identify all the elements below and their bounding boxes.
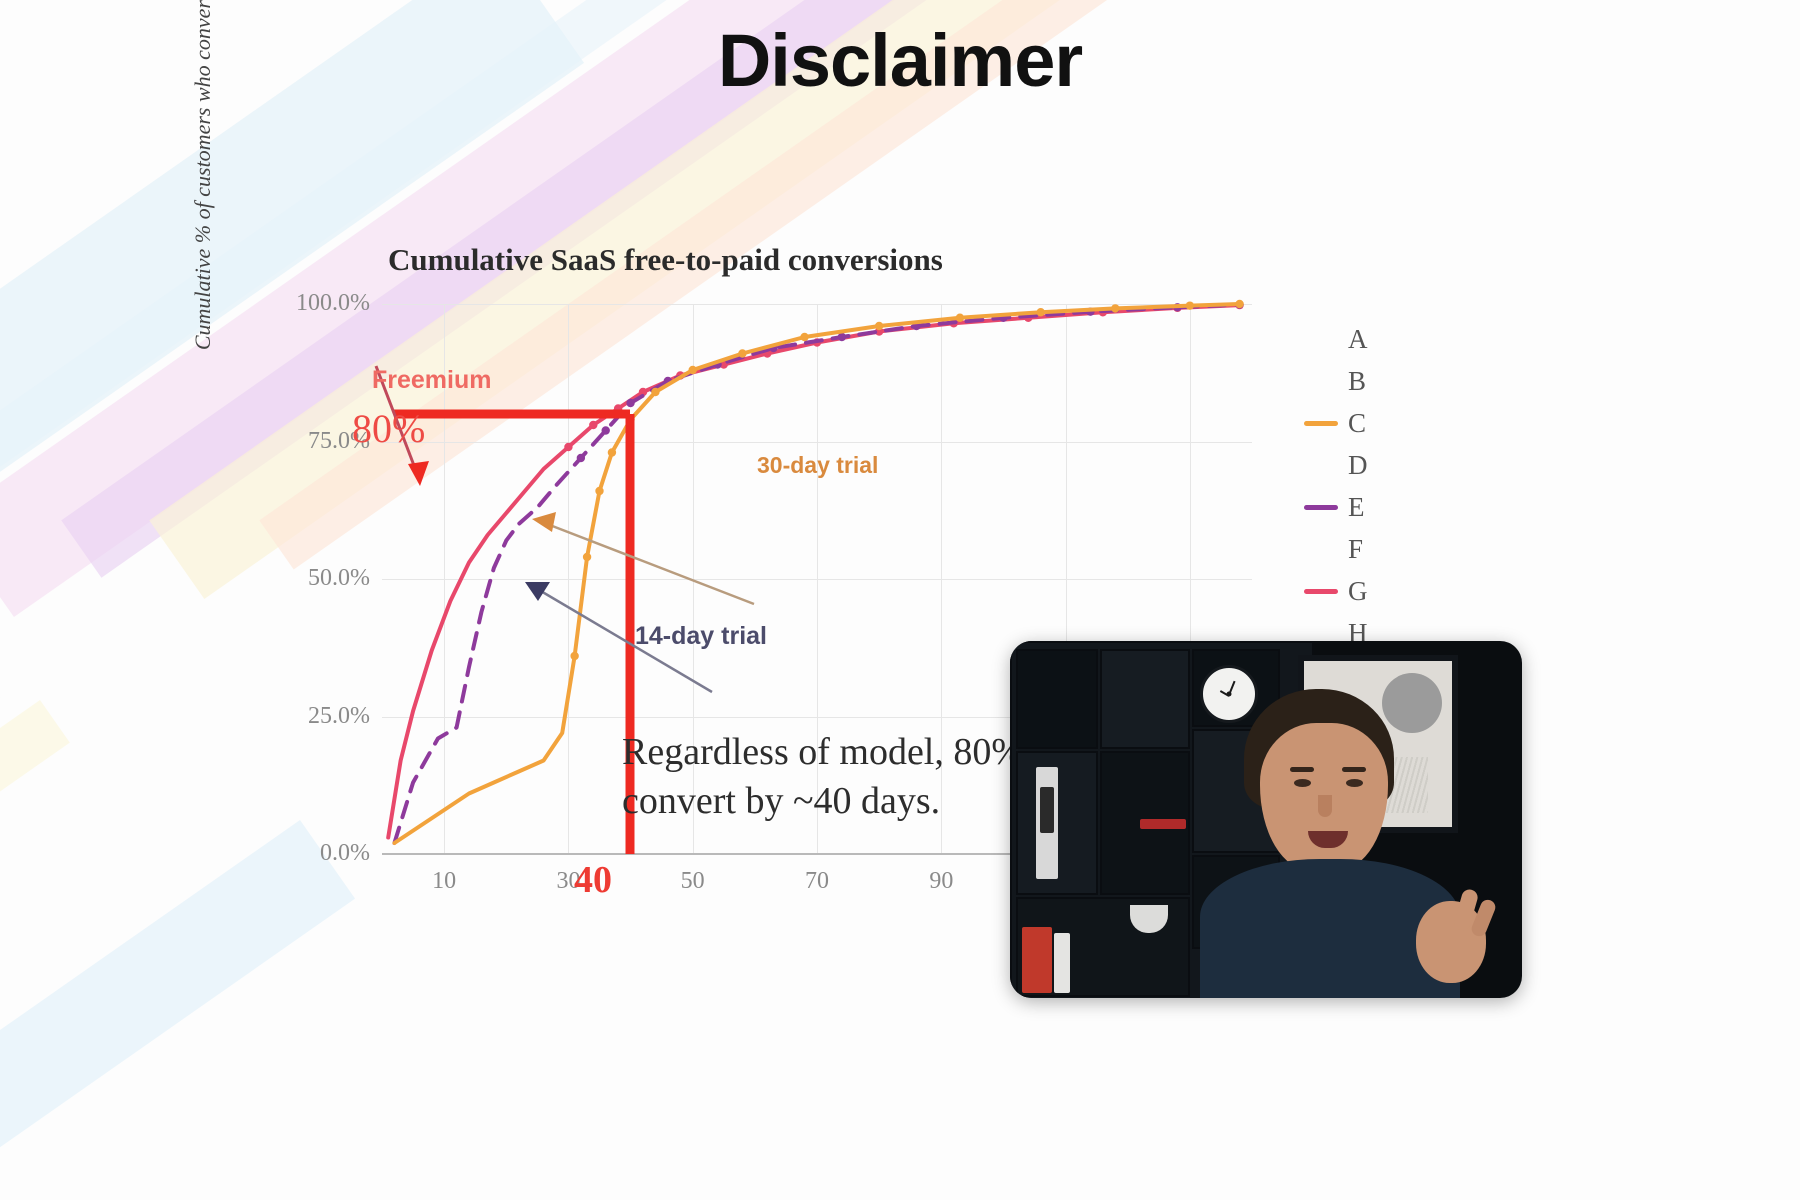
- legend-item-e[interactable]: E: [1304, 486, 1454, 528]
- legend-swatch-h-icon: [1304, 631, 1338, 636]
- thirty-day-arrow-head: [532, 512, 556, 532]
- avatar: [1190, 671, 1522, 998]
- forty-days-annotation: 40: [574, 858, 612, 902]
- callout-text: Regardless of model, 80% convert by ~40 …: [622, 728, 1062, 825]
- legend-swatch-f-icon: [1304, 547, 1338, 552]
- page-title: Disclaimer: [0, 18, 1800, 103]
- legend-swatch-d-icon: [1304, 463, 1338, 468]
- legend-item-g[interactable]: G: [1304, 570, 1454, 612]
- legend-label-f: F: [1348, 536, 1363, 563]
- legend-item-a[interactable]: A: [1304, 318, 1454, 360]
- shelf-cell: [1016, 649, 1098, 749]
- chart-title: Cumulative SaaS free-to-paid conversions: [388, 242, 943, 278]
- y-tick-label: 50.0%: [308, 565, 370, 592]
- x-tick-label: 10: [432, 868, 456, 895]
- callout-line-1: Regardless of model, 80%: [622, 728, 1062, 777]
- callout-line-2: convert by ~40 days.: [622, 777, 1062, 826]
- chart-legend: A B C D E F G: [1304, 318, 1454, 654]
- eye-left: [1294, 779, 1311, 787]
- nose: [1318, 795, 1332, 817]
- y-axis-label: Cumulative % of customers who convert: [190, 0, 216, 382]
- legend-label-d: D: [1348, 452, 1368, 479]
- legend-item-b[interactable]: B: [1304, 360, 1454, 402]
- book-spine: [1054, 933, 1070, 993]
- legend-item-d[interactable]: D: [1304, 444, 1454, 486]
- legend-swatch-g-icon: [1304, 589, 1338, 594]
- legend-swatch-c-icon: [1304, 421, 1338, 426]
- legend-swatch-b-icon: [1304, 379, 1338, 384]
- freemium-annotation: Freemium: [372, 366, 491, 395]
- legend-label-e: E: [1348, 494, 1365, 521]
- shelf-cell: [1100, 649, 1190, 749]
- thirty-day-trial-annotation: 30-day trial: [757, 452, 878, 479]
- legend-label-b: B: [1348, 368, 1366, 395]
- freemium-arrow-head: [408, 461, 429, 486]
- book-spine: [1040, 787, 1054, 833]
- legend-item-c[interactable]: C: [1304, 402, 1454, 444]
- presentation-slide: Disclaimer Cumulative SaaS free-to-paid …: [0, 0, 1800, 1200]
- eyebrow-right: [1342, 767, 1366, 772]
- fourteen-day-arrow-head: [525, 582, 550, 601]
- book-spine: [1140, 819, 1186, 829]
- legend-label-g: G: [1348, 578, 1368, 605]
- eye-right: [1346, 779, 1363, 787]
- thirty-day-arrow-shaft: [542, 522, 754, 604]
- x-tick-label: 50: [681, 868, 705, 895]
- x-tick-label: 90: [929, 868, 953, 895]
- fourteen-day-trial-annotation: 14-day trial: [635, 622, 767, 651]
- webcam-overlay[interactable]: [1010, 641, 1522, 998]
- legend-swatch-e-icon: [1304, 505, 1338, 510]
- legend-swatch-a-icon: [1304, 337, 1338, 342]
- eighty-percent-annotation: 80%: [352, 405, 425, 452]
- ribbon-lemon: [0, 700, 70, 1200]
- x-tick-label: 70: [805, 868, 829, 895]
- legend-item-f[interactable]: F: [1304, 528, 1454, 570]
- legend-label-c: C: [1348, 410, 1366, 437]
- hand: [1416, 901, 1486, 983]
- y-tick-label: 0.0%: [320, 840, 370, 867]
- eyebrow-left: [1290, 767, 1314, 772]
- y-tick-label: 25.0%: [308, 702, 370, 729]
- book-spine: [1022, 927, 1052, 993]
- legend-label-a: A: [1348, 326, 1368, 353]
- y-tick-label: 100.0%: [296, 290, 370, 317]
